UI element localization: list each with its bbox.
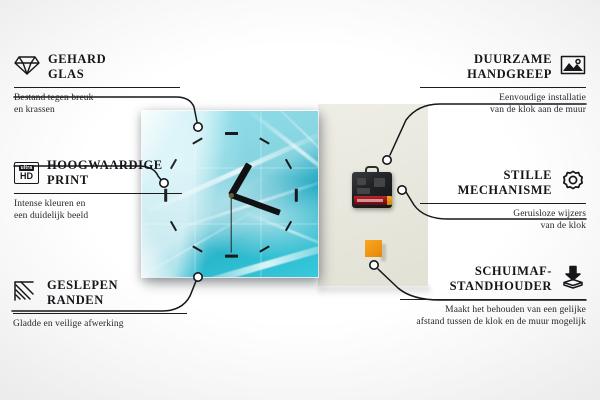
hd-text: HD <box>20 172 33 181</box>
feature-desc-line1: Bestand tegen breuk <box>14 92 184 105</box>
feature-description: Intense kleuren en een duidelijk beeld <box>14 198 186 224</box>
battery <box>354 196 390 205</box>
hour-marker <box>225 255 238 258</box>
feature-title-line2: PRINT <box>47 173 163 188</box>
feature-desc-line1: Eenvoudige installatie <box>416 92 586 105</box>
mechanism-detail <box>357 178 366 185</box>
feature-title-line1: GESLEPEN <box>47 278 118 293</box>
feature-title-line2: HANDGREEP <box>467 67 552 82</box>
feature-title: HOOGWAARDIGE PRINT <box>47 158 163 189</box>
feature-rule <box>420 87 586 88</box>
feature-title-line1: GEHARD <box>48 52 106 67</box>
feature-rule <box>420 203 586 204</box>
feature-title: DUURZAME HANDGREEP <box>467 52 552 83</box>
feature-title: GESLEPEN RANDEN <box>47 278 118 309</box>
picture-frame-icon <box>560 54 586 81</box>
gear-icon <box>560 169 586 198</box>
feature-description: Maakt het behouden van een gelijke afsta… <box>396 304 586 330</box>
feature-title-line2: MECHANISME <box>458 183 552 198</box>
feature-hoogwaardige-print: ultra HD HOOGWAARDIGE PRINT Intense kleu… <box>14 158 186 223</box>
art-grid-line <box>194 111 196 277</box>
beveled-edges-icon <box>13 280 39 307</box>
feature-rule <box>13 313 187 314</box>
feature-description: Bestand tegen breuk en krassen <box>14 92 184 118</box>
mechanism-detail <box>374 178 385 187</box>
feature-desc-line1: Gladde en veilige afwerking <box>13 318 191 331</box>
feature-title: STILLE MECHANISME <box>458 168 552 199</box>
feature-desc-line1: Geruisloze wijzers <box>416 208 586 221</box>
spacer-press-icon <box>560 265 586 294</box>
feature-rule <box>14 193 182 194</box>
feature-header: DUURZAME HANDGREEP <box>416 52 586 83</box>
feature-description: Gladde en veilige afwerking <box>13 318 191 331</box>
feature-gehard-glas: GEHARD GLAS Bestand tegen breuk en krass… <box>14 52 184 117</box>
feature-schuimafstandhouder: SCHUIMAF- STANDHOUDER Maakt het behouden… <box>396 264 586 329</box>
feature-header: SCHUIMAF- STANDHOUDER <box>396 264 586 295</box>
feature-stille-mechanisme: STILLE MECHANISME Geruisloze wijzers van… <box>416 168 586 233</box>
feature-rule <box>400 299 586 300</box>
hour-marker <box>225 132 238 135</box>
feature-title-line2: GLAS <box>48 67 106 82</box>
mechanism-detail <box>357 188 370 194</box>
diamond-icon <box>14 54 40 81</box>
feature-desc-line2: en krassen <box>14 104 184 117</box>
feature-rule <box>14 87 180 88</box>
ultra-hd-icon: ultra HD <box>14 162 39 184</box>
feature-description: Geruisloze wijzers van de klok <box>416 208 586 234</box>
feature-duurzame-handgreep: DUURZAME HANDGREEP Eenvoudige installati… <box>416 52 586 117</box>
feature-header: GEHARD GLAS <box>14 52 184 83</box>
hand-centre-cap <box>229 193 234 198</box>
foam-spacer <box>365 240 382 257</box>
feature-title-line1: SCHUIMAF- <box>450 264 552 279</box>
second-hand <box>230 195 231 253</box>
feature-desc-line2: afstand tussen de klok en de muur mogeli… <box>396 316 586 329</box>
battery-positive-tip <box>387 196 392 205</box>
feature-title: GEHARD GLAS <box>48 52 106 83</box>
feature-description: Eenvoudige installatie van de klok aan d… <box>416 92 586 118</box>
hour-marker <box>295 188 298 201</box>
feature-header: STILLE MECHANISME <box>416 168 586 199</box>
feature-geslepen-randen: GESLEPEN RANDEN Gladde en veilige afwerk… <box>13 278 191 330</box>
feature-desc-line1: Intense kleuren en <box>14 198 186 211</box>
feature-title: SCHUIMAF- STANDHOUDER <box>450 264 552 295</box>
feature-desc-line2: van de klok <box>416 220 586 233</box>
feature-title-line2: STANDHOUDER <box>450 279 552 294</box>
art-streak <box>175 235 319 278</box>
feature-header: ultra HD HOOGWAARDIGE PRINT <box>14 158 186 189</box>
feature-title-line2: RANDEN <box>47 293 118 308</box>
battery-label <box>357 199 383 202</box>
feature-title-line1: HOOGWAARDIGE <box>47 158 163 173</box>
feature-desc-line1: Maakt het behouden van een gelijke <box>396 304 586 317</box>
infographic-canvas: GEHARD GLAS Bestand tegen breuk en krass… <box>0 0 600 400</box>
feature-title-line1: DUURZAME <box>467 52 552 67</box>
feature-desc-line2: van de klok aan de muur <box>416 104 586 117</box>
feature-header: GESLEPEN RANDEN <box>13 278 191 309</box>
feature-desc-line2: een duidelijk beeld <box>14 210 186 223</box>
feature-title-line1: STILLE <box>458 168 552 183</box>
